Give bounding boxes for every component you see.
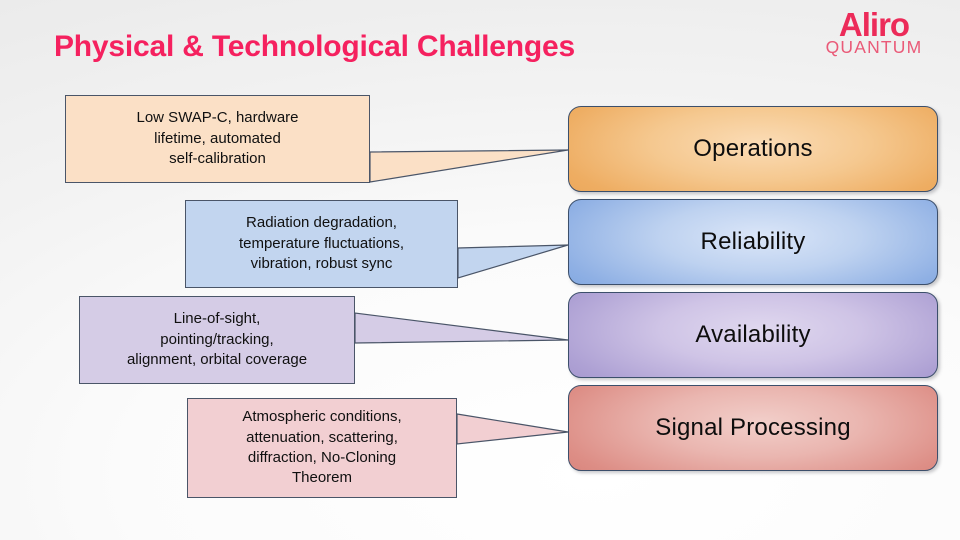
callout-tail-reliability [458,245,568,278]
callout-text: Atmospheric conditions, attenuation, sca… [232,407,411,489]
category-bar-label: Availability [695,321,810,349]
callout-box-reliability[interactable]: Radiation degradation, temperature fluct… [185,200,458,288]
category-bar-signal-processing[interactable]: Signal Processing [568,385,938,471]
callout-text: Low SWAP-C, hardware lifetime, automated… [127,108,309,169]
category-bar-label: Signal Processing [655,414,851,442]
logo-subtitle: QUANTUM [806,39,942,57]
callout-tail-availability [355,313,568,343]
category-bar-operations[interactable]: Operations [568,106,938,192]
category-bar-label: Operations [693,135,812,163]
category-bar-availability[interactable]: Availability [568,292,938,378]
callout-box-availability[interactable]: Line-of-sight, pointing/tracking, alignm… [79,296,355,384]
callout-box-signal-processing[interactable]: Atmospheric conditions, attenuation, sca… [187,398,457,498]
slide-canvas: Physical & Technological Challenges Alir… [0,0,960,540]
callout-tail-signal-processing [457,414,568,444]
callout-box-operations[interactable]: Low SWAP-C, hardware lifetime, automated… [65,95,370,183]
category-bar-reliability[interactable]: Reliability [568,199,938,285]
callout-text: Radiation degradation, temperature fluct… [229,213,414,274]
callout-text: Line-of-sight, pointing/tracking, alignm… [117,309,317,370]
page-title: Physical & Technological Challenges [54,30,575,64]
callout-tail-operations [370,150,568,182]
category-bar-label: Reliability [701,228,806,256]
aliro-quantum-logo: Aliro QUANTUM [806,8,942,57]
